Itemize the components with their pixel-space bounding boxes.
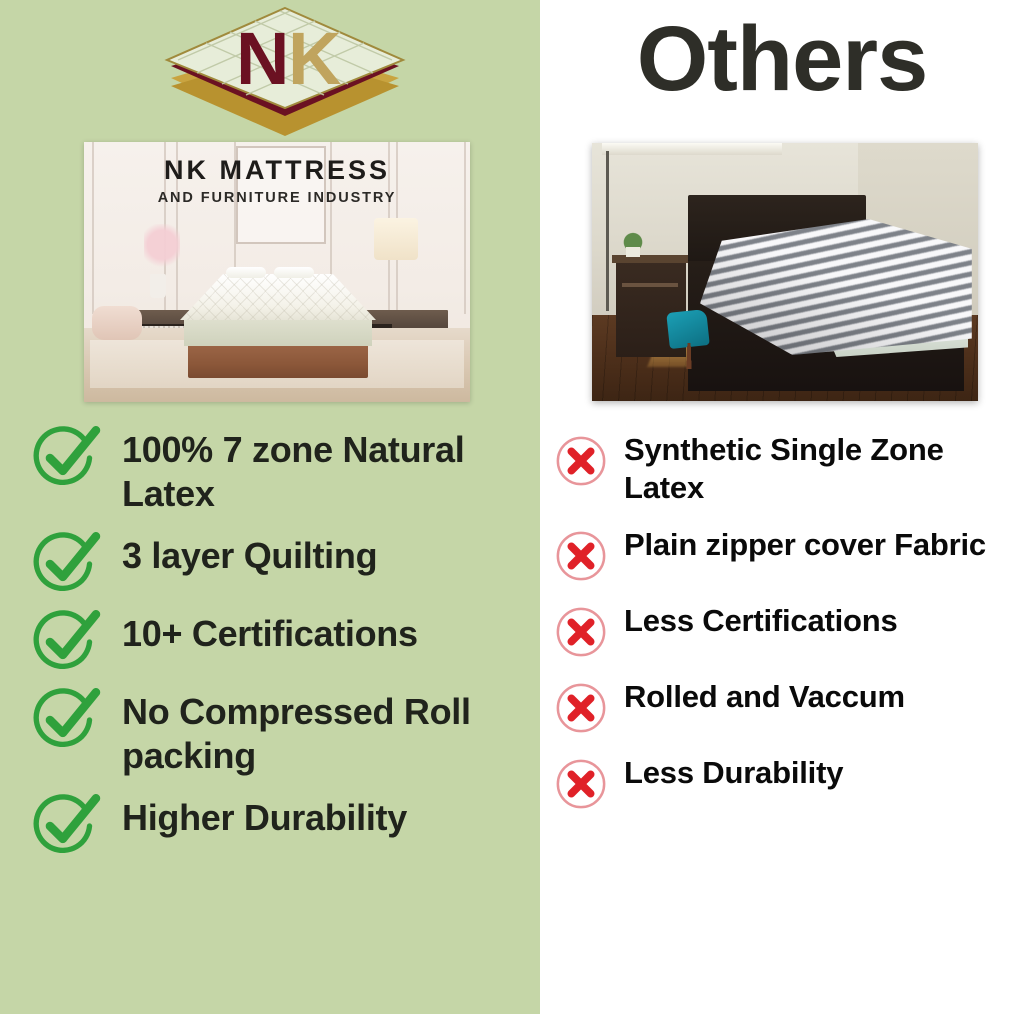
bedroom-scene-nk [84, 142, 470, 402]
others-feature-list: Synthetic Single Zone Latex Plain zipper… [554, 428, 1006, 827]
list-item: Plain zipper cover Fabric [554, 523, 1006, 583]
nk-feature-list: 100% 7 zone Natural Latex 3 layer Quilti… [30, 424, 530, 870]
list-item-label: Less Durability [624, 751, 843, 792]
list-item-label: Plain zipper cover Fabric [624, 523, 986, 564]
list-item-label: Higher Durability [122, 792, 407, 840]
bedroom-scene-others [592, 143, 978, 401]
others-product-image [592, 143, 978, 401]
list-item-label: No Compressed Roll packing [122, 686, 530, 778]
check-circle-icon [30, 426, 102, 488]
comparison-infographic: N K NK MATT [0, 0, 1024, 1024]
list-item: Less Durability [554, 751, 1006, 811]
check-circle-icon [30, 794, 102, 856]
nk-product-image: NK MATTRESS AND FURNITURE INDUSTRY [84, 142, 470, 402]
check-circle-icon [30, 610, 102, 672]
cross-circle-icon [554, 434, 608, 488]
nk-diamond-mattress-logo: N K [160, 2, 410, 137]
list-item: 3 layer Quilting [30, 530, 530, 594]
cross-circle-icon [554, 605, 608, 659]
list-item-label: 3 layer Quilting [122, 530, 377, 578]
list-item-label: Rolled and Vaccum [624, 675, 905, 716]
nk-logo: N K [160, 2, 410, 137]
cross-circle-icon [554, 529, 608, 583]
list-item-label: Less Certifications [624, 599, 898, 640]
list-item: Higher Durability [30, 792, 530, 856]
list-item-label: 100% 7 zone Natural Latex [122, 424, 530, 516]
others-title: Others [540, 10, 1024, 109]
list-item: Less Certifications [554, 599, 1006, 659]
list-item: Rolled and Vaccum [554, 675, 1006, 735]
list-item: No Compressed Roll packing [30, 686, 530, 778]
list-item-label: Synthetic Single Zone Latex [624, 428, 1006, 507]
list-item: 100% 7 zone Natural Latex [30, 424, 530, 516]
check-circle-icon [30, 532, 102, 594]
logo-letter-n: N [236, 17, 289, 100]
list-item-label: 10+ Certifications [122, 608, 418, 656]
cross-circle-icon [554, 681, 608, 735]
list-item: Synthetic Single Zone Latex [554, 428, 1006, 507]
cross-circle-icon [554, 757, 608, 811]
list-item: 10+ Certifications [30, 608, 530, 672]
logo-letter-k: K [288, 17, 341, 100]
check-circle-icon [30, 688, 102, 750]
